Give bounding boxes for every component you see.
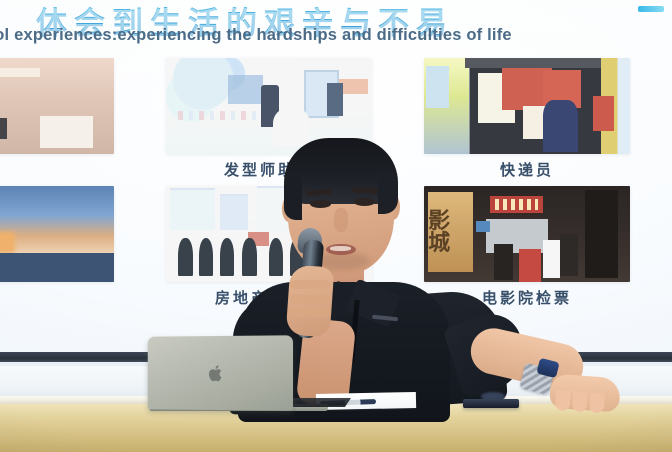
photo-cinema-tickets: 影城 bbox=[424, 186, 630, 282]
cyan-accent-mark bbox=[638, 6, 664, 12]
photo-cell-r1c2: 快递员 bbox=[424, 58, 630, 180]
photo-row-1: 发型师助理 快递员 bbox=[0, 58, 672, 178]
photo-hair-salon bbox=[166, 58, 372, 154]
smartphone-on-desk bbox=[463, 399, 519, 408]
photo-cell-r2c0 bbox=[0, 186, 114, 287]
photo-street-scene bbox=[0, 186, 114, 282]
laptop-lid[interactable] bbox=[148, 335, 293, 410]
apple-logo-icon bbox=[208, 364, 225, 383]
photo-delivery-van bbox=[424, 58, 630, 154]
cinema-sign-text: 影城 bbox=[428, 192, 473, 273]
photo-cell-r2c2: 影城 电影院检票 bbox=[424, 186, 630, 308]
photo-caption-hair-stylist-assistant: 发型师助理 bbox=[166, 159, 372, 180]
desk bbox=[0, 404, 672, 452]
photo-cell-r2c1: 房地产发传单 bbox=[166, 186, 372, 308]
tickets-sign bbox=[490, 196, 544, 213]
photo-snow-flyers bbox=[166, 186, 372, 282]
slide-photo-grid: 发型师助理 快递员 bbox=[0, 58, 672, 314]
slide-title-english: ool experiences:experiencing the hardshi… bbox=[0, 26, 512, 45]
photo-caption-courier: 快递员 bbox=[424, 159, 630, 180]
photo-cell-r1c0 bbox=[0, 58, 114, 159]
photo-storefront bbox=[0, 58, 114, 154]
photo-cell-r1c1: 发型师助理 bbox=[166, 58, 372, 180]
photo-caption-cinema-ticket-check: 电影院检票 bbox=[424, 287, 630, 308]
photo-row-2: 房地产发传单 影城 电影院检票 bbox=[0, 186, 672, 306]
video-frame: 体会到生活的艰辛与不易 ool experiences:experiencing… bbox=[0, 0, 672, 452]
photo-caption-real-estate-flyers: 房地产发传单 bbox=[166, 287, 372, 308]
